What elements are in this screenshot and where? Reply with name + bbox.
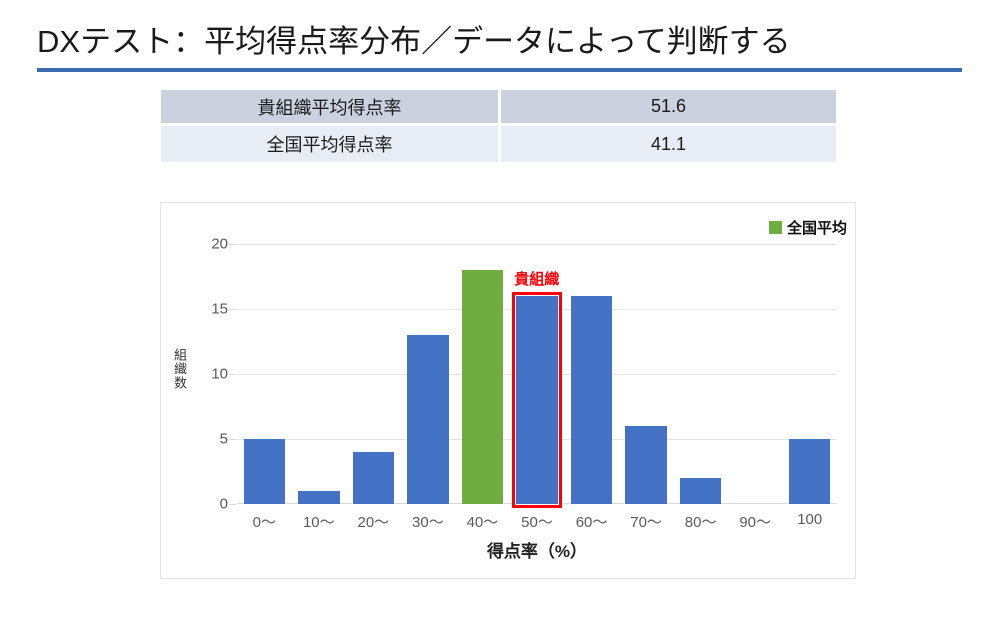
y-axis-tick-mark <box>229 504 236 505</box>
bars-group: 貴組織 <box>237 244 837 504</box>
table-row: 全国平均得点率 41.1 <box>161 126 836 162</box>
y-axis-tick-label: 0 <box>220 496 228 513</box>
legend-label: 全国平均 <box>787 217 847 238</box>
x-axis-title: 得点率（%） <box>237 537 837 562</box>
bar[interactable] <box>407 335 448 504</box>
bar[interactable] <box>353 452 394 504</box>
y-axis-tick-label: 10 <box>211 366 228 383</box>
bar-slot <box>237 244 292 504</box>
bar-slot <box>401 244 456 504</box>
x-axis-tick-label: 20〜 <box>346 511 401 532</box>
table-cell-label: 貴組織平均得点率 <box>161 90 501 126</box>
bar[interactable] <box>625 426 666 504</box>
bar-slot <box>564 244 619 504</box>
bar-slot <box>782 244 837 504</box>
title-underline-rule <box>37 68 962 72</box>
slide-canvas: DXテスト：平均得点率分布／データによって判断する 貴組織平均得点率 51.6 … <box>0 0 1000 629</box>
x-axis-tick-label: 40〜 <box>455 511 510 532</box>
bar[interactable] <box>680 478 721 504</box>
x-axis-ticks-group: 0〜10〜20〜30〜40〜50〜60〜70〜80〜90〜100 <box>237 511 837 533</box>
x-axis-tick-label: 60〜 <box>564 511 619 532</box>
y-axis-tick-mark <box>229 439 236 440</box>
y-axis-tick-label: 15 <box>211 301 228 318</box>
y-axis-tick-mark <box>229 309 236 310</box>
table-cell-value: 41.1 <box>501 126 836 162</box>
highlight-label: 貴組織 <box>514 268 559 289</box>
x-axis-tick-label: 100 <box>782 511 837 528</box>
table-row: 貴組織平均得点率 51.6 <box>161 90 836 126</box>
chart-legend: 全国平均 <box>769 217 847 237</box>
bar[interactable] <box>298 491 339 504</box>
page-title: DXテスト：平均得点率分布／データによって判断する <box>37 22 962 62</box>
legend-swatch-green-icon <box>769 221 782 234</box>
summary-table: 貴組織平均得点率 51.6 全国平均得点率 41.1 <box>161 90 836 162</box>
y-axis-title: 組織数 <box>169 348 189 390</box>
x-axis-tick-label: 70〜 <box>619 511 674 532</box>
bar[interactable] <box>244 439 285 504</box>
table-cell-label: 全国平均得点率 <box>161 126 501 162</box>
table-cell-value: 51.6 <box>501 90 836 126</box>
y-axis-tick-mark <box>229 244 236 245</box>
x-axis-tick-label: 0〜 <box>237 511 292 532</box>
bar-slot <box>455 244 510 504</box>
bar-slot <box>673 244 728 504</box>
chart-panel: 全国平均 組織数 05101520 貴組織 0〜10〜20〜30〜40〜50〜6… <box>160 202 856 579</box>
y-axis-tick-label: 5 <box>220 431 228 448</box>
bar[interactable] <box>789 439 830 504</box>
bar[interactable] <box>571 296 612 504</box>
bar[interactable] <box>462 270 503 504</box>
bar-slot <box>728 244 783 504</box>
y-axis-tick-mark <box>229 374 236 375</box>
x-axis-tick-label: 90〜 <box>728 511 783 532</box>
x-axis-tick-label: 10〜 <box>292 511 347 532</box>
bar-slot <box>292 244 347 504</box>
x-axis-tick-label: 30〜 <box>401 511 456 532</box>
title-block: DXテスト：平均得点率分布／データによって判断する <box>37 22 962 62</box>
bar-slot <box>619 244 674 504</box>
bar-slot <box>346 244 401 504</box>
plot-area: 05101520 貴組織 <box>237 244 837 504</box>
y-axis-tick-label: 20 <box>211 236 228 253</box>
summary-table-body: 貴組織平均得点率 51.6 全国平均得点率 41.1 <box>161 90 836 162</box>
x-axis-tick-label: 50〜 <box>510 511 565 532</box>
x-axis-tick-label: 80〜 <box>673 511 728 532</box>
bar[interactable] <box>516 296 557 504</box>
